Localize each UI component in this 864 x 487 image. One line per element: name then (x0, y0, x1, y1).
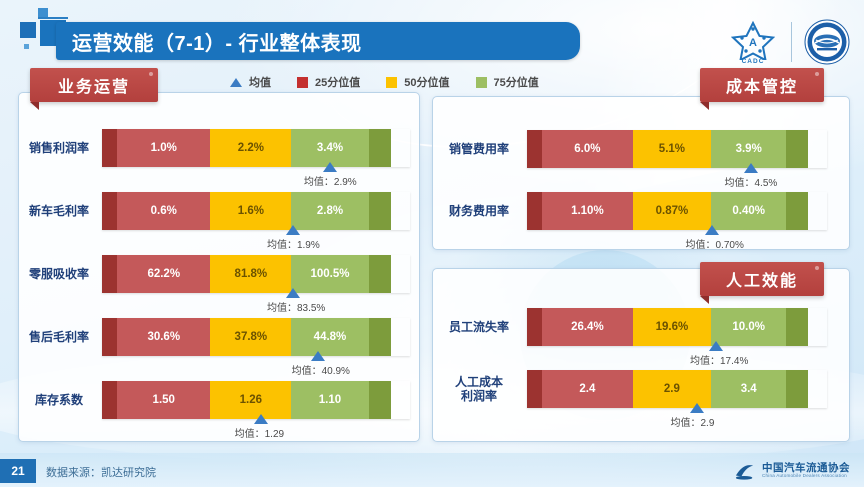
slide-root: 运营效能（7-1）- 行业整体表现 A CADC (0, 0, 864, 487)
bar-value-label: 2.4 (579, 383, 595, 395)
bar-segment-p50: 37.8% (210, 318, 291, 356)
section-tag-cost: 成本管控 (700, 68, 824, 102)
bar-segment-p25: 0.6% (117, 192, 210, 230)
bar-value-label: 44.8% (314, 331, 347, 343)
bar-segment-p50: 19.6% (633, 308, 711, 346)
logo-divider (791, 22, 792, 62)
cadc-star-icon: A (731, 20, 775, 60)
slide-title-bar: 运营效能（7-1）- 行业整体表现 (56, 22, 580, 60)
mean-marker-triangle-icon (705, 225, 719, 235)
bar-value-label: 2.8% (317, 205, 343, 217)
bar-value-label: 37.8% (235, 331, 268, 343)
footer-org-logo: 中国汽车流通协会 China Automobile Dealers Associ… (734, 461, 850, 481)
mean-marker-triangle-icon (254, 414, 268, 424)
chart-legend: 均值 25分位值 50分位值 75分位值 (230, 74, 539, 90)
bar-cap-min (102, 318, 117, 356)
bar-cap-max (369, 381, 391, 419)
bar-value-label: 5.1% (659, 143, 685, 155)
row-label-2: 财务费用率 (438, 204, 520, 218)
bar-value-label: 26.4% (571, 321, 604, 333)
legend-label: 75分位值 (494, 74, 539, 90)
footer-org-name-en: China Automobile Dealers Association (762, 474, 850, 479)
bar-value-label: 3.4% (317, 142, 343, 154)
bar-segment-p50: 2.2% (210, 129, 291, 167)
stat-bar[interactable]: 6.0%5.1%3.9% (527, 130, 827, 168)
header-logos: A CADC (727, 16, 850, 68)
bar-value-label: 6.0% (574, 143, 600, 155)
bar-value-label: 0.6% (151, 205, 177, 217)
bar-cap-min (527, 308, 542, 346)
triangle-icon (230, 78, 242, 87)
mean-value-label: 均值：4.5% (725, 174, 778, 189)
square-icon (297, 77, 308, 88)
section-tag-label: 业务运营 (58, 73, 130, 97)
bar-cap-min (102, 255, 117, 293)
bar-segment-p75: 3.4 (711, 370, 786, 408)
row-label-1: 销管费用率 (438, 142, 520, 156)
bar-segment-p25: 2.4 (542, 370, 633, 408)
cadc-logo: A CADC (727, 16, 779, 68)
bar-cap-max (786, 370, 808, 408)
bar-value-label: 3.9% (736, 143, 762, 155)
legend-item-p75: 75分位值 (476, 74, 539, 90)
association-seal-icon (804, 19, 850, 65)
row-label-2: 新车毛利率 (22, 204, 96, 218)
section-tag-label: 人工效能 (726, 267, 798, 291)
bar-cap-min (527, 192, 542, 230)
stat-bar[interactable]: 62.2%81.8%100.5% (102, 255, 410, 293)
row-label-1: 员工流失率 (438, 320, 520, 334)
bar-segment-p75: 1.10 (291, 381, 369, 419)
cadc-logo-text: CADC (742, 58, 765, 65)
stat-bar[interactable]: 2.42.93.4 (527, 370, 827, 408)
bar-cap-max (369, 255, 391, 293)
bar-cap-max (786, 130, 808, 168)
mean-marker-triangle-icon (690, 403, 704, 413)
bar-segment-p25: 1.50 (117, 381, 210, 419)
bar-value-label: 19.6% (656, 321, 689, 333)
bar-value-label: 100.5% (310, 268, 349, 280)
bar-segment-p50: 0.87% (633, 192, 711, 230)
svg-text:A: A (749, 37, 757, 49)
bar-value-label: 1.50 (153, 394, 175, 406)
bar-segment-p25: 6.0% (542, 130, 633, 168)
bar-value-label: 1.0% (151, 142, 177, 154)
stat-bar[interactable]: 0.6%1.6%2.8% (102, 192, 410, 230)
mean-marker-triangle-icon (286, 288, 300, 298)
mean-value-label: 均值：40.9% (292, 362, 350, 377)
mean-marker-triangle-icon (744, 163, 758, 173)
bar-value-label: 3.4 (741, 383, 757, 395)
stat-bar[interactable]: 30.6%37.8%44.8% (102, 318, 410, 356)
bar-segment-p50: 81.8% (210, 255, 291, 293)
bar-segment-p75: 0.40% (711, 192, 786, 230)
bar-cap-max (369, 129, 391, 167)
section-tag-business: 业务运营 (30, 68, 158, 102)
bar-value-label: 2.2% (238, 142, 264, 154)
bar-segment-p50: 5.1% (633, 130, 711, 168)
mean-marker-triangle-icon (709, 341, 723, 351)
bar-cap-min (102, 381, 117, 419)
bar-segment-p25: 26.4% (542, 308, 633, 346)
bar-segment-p25: 1.0% (117, 129, 210, 167)
bar-value-label: 1.10% (571, 205, 604, 217)
legend-item-p25: 25分位值 (297, 74, 360, 90)
bar-value-label: 0.87% (656, 205, 689, 217)
bar-cap-min (527, 370, 542, 408)
legend-label: 均值 (249, 74, 271, 90)
legend-label: 50分位值 (404, 74, 449, 90)
bar-segment-p25: 1.10% (542, 192, 633, 230)
bar-value-label: 62.2% (147, 268, 180, 280)
page-title: 运营效能（7-1）- 行业整体表现 (72, 27, 362, 56)
bar-cap-min (102, 129, 117, 167)
bar-value-label: 10.0% (732, 321, 765, 333)
page-number: 21 (0, 459, 36, 483)
bar-segment-p50: 1.26 (210, 381, 291, 419)
mean-value-label: 均值：17.4% (690, 352, 748, 367)
row-label-4: 售后毛利率 (22, 330, 96, 344)
bar-value-label: 1.10 (319, 394, 341, 406)
cada-mark-icon (734, 461, 756, 481)
bar-value-label: 30.6% (147, 331, 180, 343)
bar-value-label: 0.40% (732, 205, 765, 217)
mean-value-label: 均值：2.9% (304, 173, 357, 188)
bar-segment-p75: 2.8% (291, 192, 369, 230)
bar-value-label: 1.6% (238, 205, 264, 217)
row-label-1: 销售利润率 (22, 141, 96, 155)
bar-value-label: 81.8% (235, 268, 268, 280)
mean-value-label: 均值：0.70% (686, 236, 744, 251)
legend-item-mean: 均值 (230, 74, 271, 90)
row-label-5: 库存系数 (22, 393, 96, 407)
mean-marker-triangle-icon (323, 162, 337, 172)
bar-cap-max (369, 318, 391, 356)
section-tag-label: 成本管控 (726, 73, 798, 97)
bar-cap-max (786, 192, 808, 230)
mean-marker-triangle-icon (311, 351, 325, 361)
bar-segment-p75: 100.5% (291, 255, 369, 293)
stat-bar[interactable]: 1.10%0.87%0.40% (527, 192, 827, 230)
square-icon (476, 77, 487, 88)
mean-value-label: 均值：1.29 (235, 425, 284, 440)
bar-segment-p75: 44.8% (291, 318, 369, 356)
legend-label: 25分位值 (315, 74, 360, 90)
mean-value-label: 均值：1.9% (267, 236, 320, 251)
bar-cap-max (786, 308, 808, 346)
bar-value-label: 1.26 (240, 394, 262, 406)
stat-bar[interactable]: 26.4%19.6%10.0% (527, 308, 827, 346)
mean-value-label: 均值：2.9 (671, 414, 715, 429)
section-tag-labor: 人工效能 (700, 262, 824, 296)
mean-marker-triangle-icon (286, 225, 300, 235)
row-label-2: 人工成本利润率 (438, 375, 520, 403)
bar-cap-max (369, 192, 391, 230)
data-source-note: 数据来源：凯达研究院 (46, 464, 156, 480)
mean-value-label: 均值：83.5% (267, 299, 325, 314)
bar-segment-p25: 62.2% (117, 255, 210, 293)
bar-cap-min (102, 192, 117, 230)
row-label-3: 零服吸收率 (22, 267, 96, 281)
legend-item-p50: 50分位值 (386, 74, 449, 90)
bar-cap-min (527, 130, 542, 168)
bar-segment-p50: 1.6% (210, 192, 291, 230)
square-icon (386, 77, 397, 88)
bar-value-label: 2.9 (664, 383, 680, 395)
stat-bar[interactable]: 1.0%2.2%3.4% (102, 129, 410, 167)
bar-segment-p25: 30.6% (117, 318, 210, 356)
